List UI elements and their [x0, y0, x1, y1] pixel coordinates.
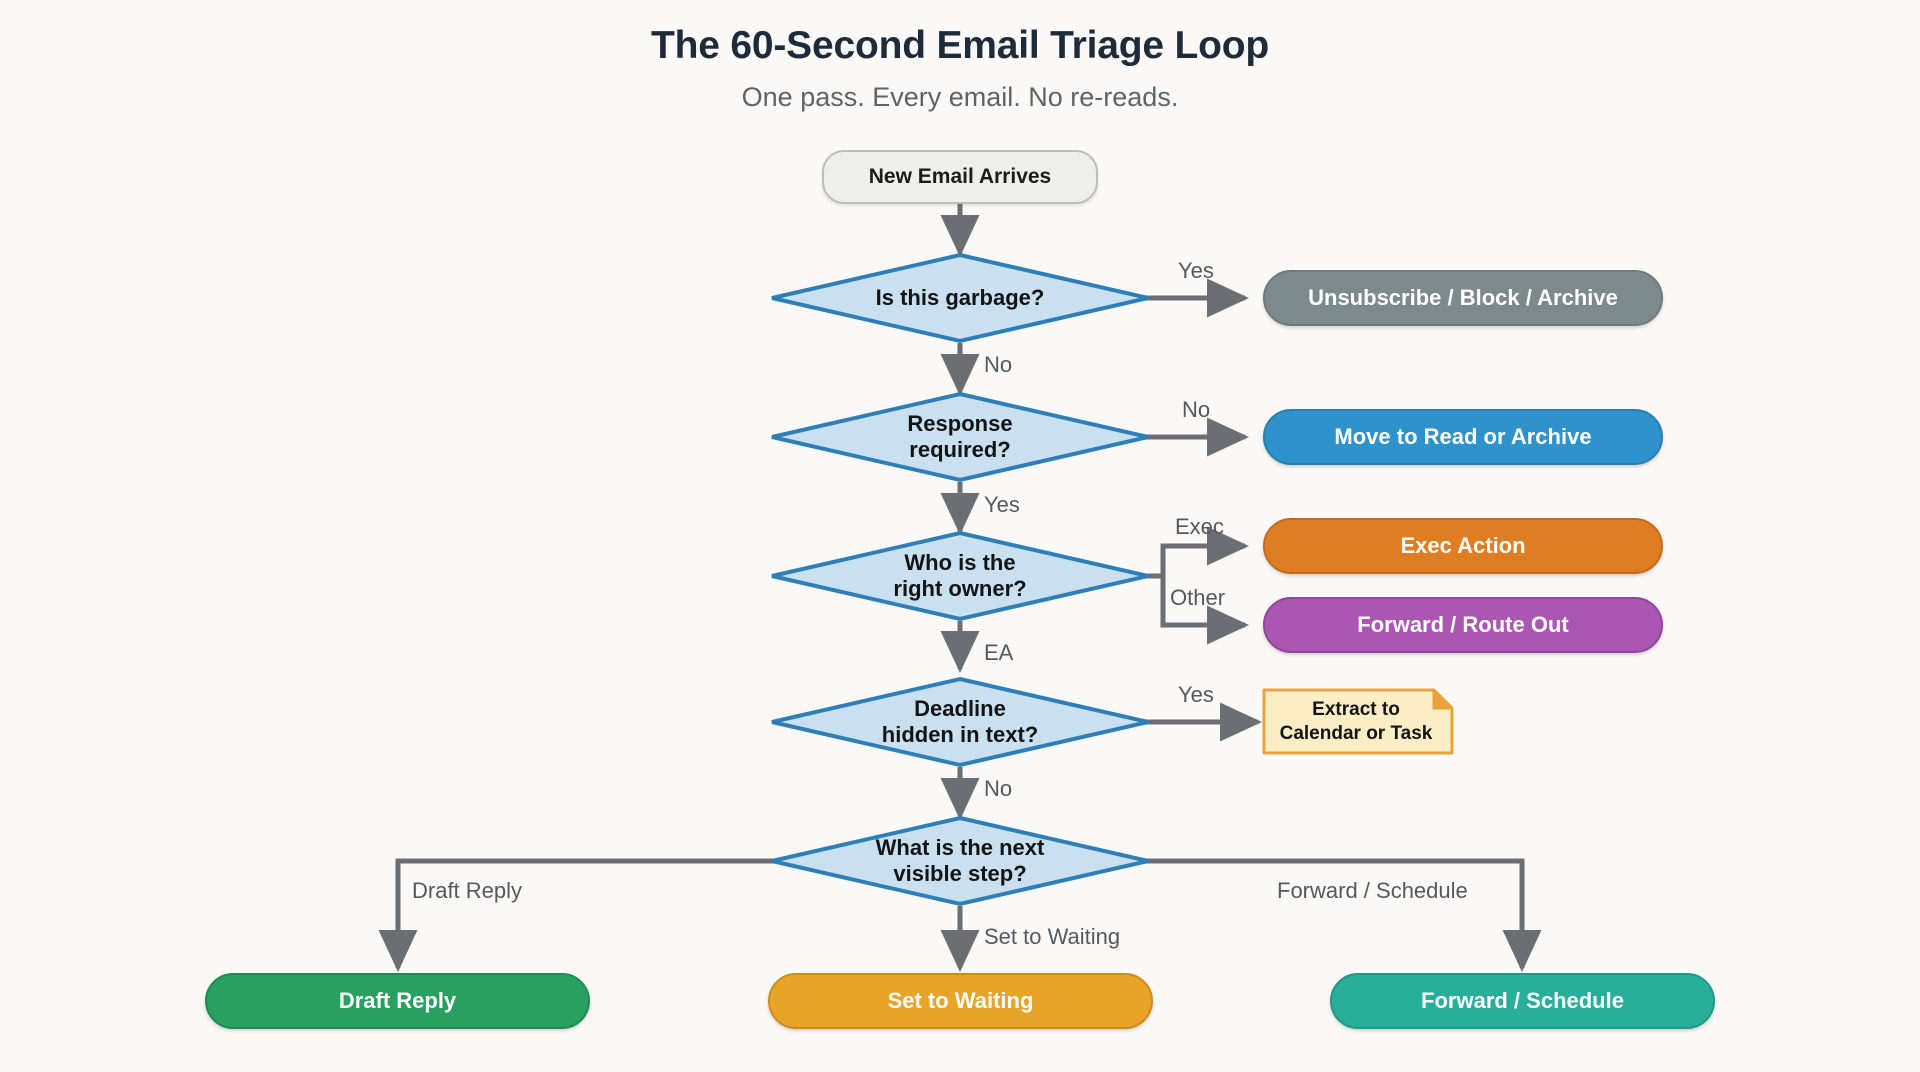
edge-label-next-draft: Draft Reply [412, 878, 522, 904]
node-label: Who is the right owner? [770, 531, 1150, 621]
node-label: Exec Action [1400, 533, 1525, 559]
edge-label-owner-ea: EA [984, 640, 1013, 666]
node-label: Forward / Route Out [1357, 612, 1568, 638]
node-label: What is the next visible step? [770, 816, 1150, 906]
node-new-email-arrives[interactable]: New Email Arrives [822, 150, 1098, 204]
page-subtitle: One pass. Every email. No re-reads. [0, 82, 1920, 113]
node-forward-route-out[interactable]: Forward / Route Out [1263, 597, 1663, 653]
edge-label-next-waiting: Set to Waiting [984, 924, 1120, 950]
node-exec-action[interactable]: Exec Action [1263, 518, 1663, 574]
node-extract-to-calendar-or-task[interactable]: Extract to Calendar or Task [1262, 688, 1454, 755]
node-label: Response required? [770, 392, 1150, 482]
page-title: The 60-Second Email Triage Loop [0, 24, 1920, 68]
edge-label-garbage-no: No [984, 352, 1012, 378]
node-label: Draft Reply [339, 988, 456, 1014]
node-label: New Email Arrives [869, 165, 1051, 190]
edge-owner-exec [1138, 546, 1245, 576]
edge-label-garbage-yes: Yes [1178, 258, 1214, 284]
node-label: Is this garbage? [770, 253, 1150, 343]
node-is-this-garbage[interactable]: Is this garbage? [770, 253, 1150, 343]
edge-label-response-no: No [1182, 397, 1210, 423]
node-who-is-the-right-owner[interactable]: Who is the right owner? [770, 531, 1150, 621]
edge-label-deadline-yes: Yes [1178, 682, 1214, 708]
node-what-is-the-next-visible-step[interactable]: What is the next visible step? [770, 816, 1150, 906]
node-label: Set to Waiting [888, 988, 1034, 1014]
edge-label-next-forward: Forward / Schedule [1277, 878, 1468, 904]
node-label: Move to Read or Archive [1334, 424, 1591, 450]
edge-label-owner-exec: Exec [1175, 514, 1224, 540]
node-set-to-waiting[interactable]: Set to Waiting [768, 973, 1153, 1029]
node-label: Extract to Calendar or Task [1262, 688, 1454, 755]
node-draft-reply[interactable]: Draft Reply [205, 973, 590, 1029]
node-move-to-read-or-archive[interactable]: Move to Read or Archive [1263, 409, 1663, 465]
node-unsubscribe-block-archive[interactable]: Unsubscribe / Block / Archive [1263, 270, 1663, 326]
flowchart-canvas: The 60-Second Email Triage Loop One pass… [0, 0, 1920, 1072]
edge-label-owner-other: Other [1170, 585, 1225, 611]
edge-label-response-yes: Yes [984, 492, 1020, 518]
node-deadline-hidden-in-text[interactable]: Deadline hidden in text? [770, 677, 1150, 767]
node-label: Deadline hidden in text? [770, 677, 1150, 767]
node-label: Unsubscribe / Block / Archive [1308, 285, 1618, 311]
node-response-required[interactable]: Response required? [770, 392, 1150, 482]
node-forward-schedule[interactable]: Forward / Schedule [1330, 973, 1715, 1029]
node-label: Forward / Schedule [1421, 988, 1624, 1014]
edge-label-deadline-no: No [984, 776, 1012, 802]
